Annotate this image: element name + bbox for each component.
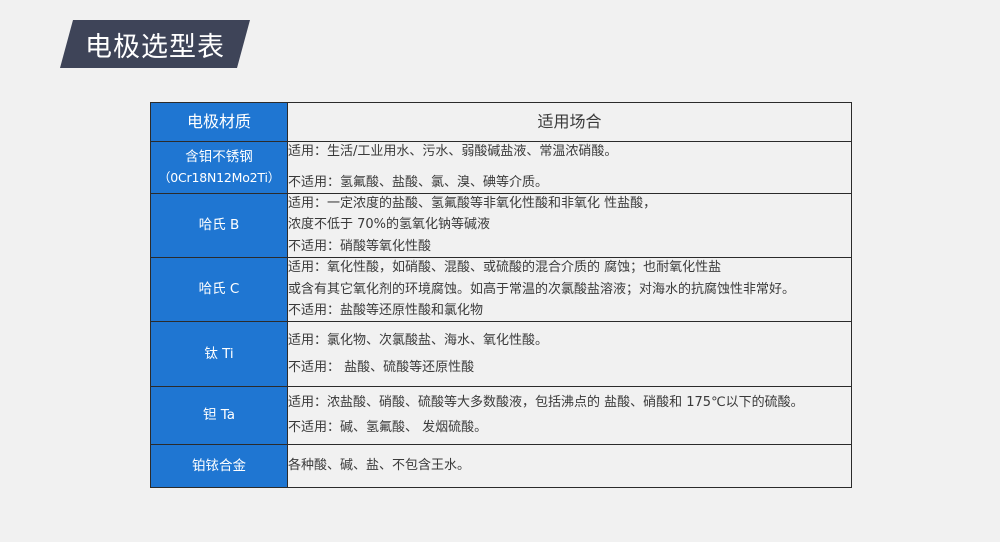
column-header-usage: 适用场合 xyxy=(288,103,852,142)
usage-line: 不适用：碱、氢氟酸、 发烟硫酸。 xyxy=(288,418,851,438)
electrode-selection-table-wrapper: 电极材质 适用场合 含钼不锈钢 （0Cr18N12Mo2Ti） 适用：生活/工业… xyxy=(150,102,851,488)
usage-cell: 适用：氧化性酸，如硝酸、混酸、或硫酸的混合介质的 腐蚀；也耐氧化性盐 或含有其它… xyxy=(288,257,852,321)
table-row: 哈氏 B 适用：一定浓度的盐酸、氢氟酸等非氧化性酸和非氧化 性盐酸， 浓度不低于… xyxy=(151,193,852,257)
usage-line: 适用：氧化性酸，如硝酸、混酸、或硫酸的混合介质的 腐蚀；也耐氧化性盐 xyxy=(288,258,851,278)
table-header-row: 电极材质 适用场合 xyxy=(151,103,852,142)
usage-line: 适用：一定浓度的盐酸、氢氟酸等非氧化性酸和非氧化 性盐酸， xyxy=(288,194,851,214)
table-row: 哈氏 C 适用：氧化性酸，如硝酸、混酸、或硫酸的混合介质的 腐蚀；也耐氧化性盐 … xyxy=(151,257,852,321)
electrode-selection-table: 电极材质 适用场合 含钼不锈钢 （0Cr18N12Mo2Ti） 适用：生活/工业… xyxy=(150,102,852,488)
usage-cell: 适用：生活/工业用水、污水、弱酸碱盐液、常温浓硝酸。 不适用：氢氟酸、盐酸、氯、… xyxy=(288,142,852,194)
usage-line: 不适用：氢氟酸、盐酸、氯、溴、碘等介质。 xyxy=(288,173,851,193)
usage-line: 适用：氯化物、次氯酸盐、海水、氧化性酸。 xyxy=(288,331,851,351)
material-cell: 铂铱合金 xyxy=(151,445,288,488)
usage-line: 不适用：硝酸等氧化性酸 xyxy=(288,237,851,257)
material-cell: 钛 Ti xyxy=(151,322,288,387)
usage-line: 浓度不低于 70%的氢氧化钠等碱液 xyxy=(288,215,851,235)
material-name: 钛 Ti xyxy=(204,346,233,362)
usage-line: 适用：浓盐酸、硝酸、硫酸等大多数酸液，包括沸点的 盐酸、硝酸和 175℃以下的硫… xyxy=(288,393,851,413)
material-cell: 哈氏 B xyxy=(151,193,288,257)
material-name: 钽 Ta xyxy=(203,407,235,423)
table-row: 钽 Ta 适用：浓盐酸、硝酸、硫酸等大多数酸液，包括沸点的 盐酸、硝酸和 175… xyxy=(151,387,852,445)
material-name: 哈氏 B xyxy=(199,217,240,233)
page-title: 电极选型表 xyxy=(60,20,250,68)
column-header-material: 电极材质 xyxy=(151,103,288,142)
usage-cell: 适用：氯化物、次氯酸盐、海水、氧化性酸。 不适用： 盐酸、硫酸等还原性酸 xyxy=(288,322,852,387)
usage-line: 不适用： 盐酸、硫酸等还原性酸 xyxy=(288,358,851,378)
material-code: （0Cr18N12Mo2Ti） xyxy=(151,168,287,187)
usage-line: 或含有其它氧化剂的环境腐蚀。如高于常温的次氯酸盐溶液；对海水的抗腐蚀性非常好。 xyxy=(288,280,851,300)
usage-line: 不适用：盐酸等还原性酸和氯化物 xyxy=(288,301,851,321)
material-name: 哈氏 C xyxy=(199,281,240,297)
table-row: 含钼不锈钢 （0Cr18N12Mo2Ti） 适用：生活/工业用水、污水、弱酸碱盐… xyxy=(151,142,852,194)
usage-cell: 各种酸、碱、盐、不包含王水。 xyxy=(288,445,852,488)
material-cell: 含钼不锈钢 （0Cr18N12Mo2Ti） xyxy=(151,142,288,194)
table-row: 钛 Ti 适用：氯化物、次氯酸盐、海水、氧化性酸。 不适用： 盐酸、硫酸等还原性… xyxy=(151,322,852,387)
material-name: 铂铱合金 xyxy=(192,458,246,474)
usage-cell: 适用：浓盐酸、硝酸、硫酸等大多数酸液，包括沸点的 盐酸、硝酸和 175℃以下的硫… xyxy=(288,387,852,445)
usage-cell: 适用：一定浓度的盐酸、氢氟酸等非氧化性酸和非氧化 性盐酸， 浓度不低于 70%的… xyxy=(288,193,852,257)
material-cell: 哈氏 C xyxy=(151,257,288,321)
usage-line: 适用：生活/工业用水、污水、弱酸碱盐液、常温浓硝酸。 xyxy=(288,142,851,162)
material-cell: 钽 Ta xyxy=(151,387,288,445)
material-name: 含钼不锈钢 xyxy=(185,149,253,165)
table-body: 电极材质 适用场合 含钼不锈钢 （0Cr18N12Mo2Ti） 适用：生活/工业… xyxy=(151,103,852,488)
usage-line: 各种酸、碱、盐、不包含王水。 xyxy=(288,456,851,476)
table-row: 铂铱合金 各种酸、碱、盐、不包含王水。 xyxy=(151,445,852,488)
page-title-banner: 电极选型表 xyxy=(60,20,250,68)
